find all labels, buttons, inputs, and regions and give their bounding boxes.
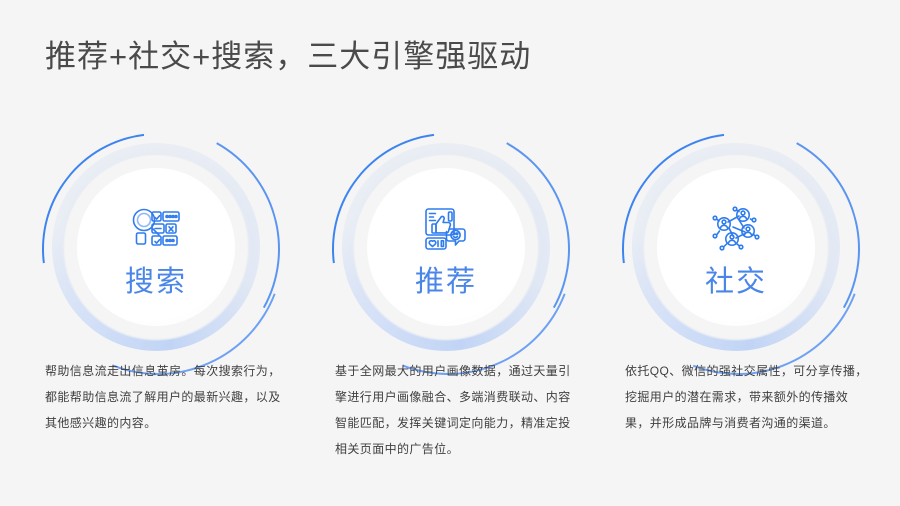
engine-columns: 搜索 帮助信息流走出信息茧房。每次搜索行为，都能帮助信息流了解用户的最新兴趣，以… bbox=[0, 0, 900, 506]
engine-column-recommend: 推荐 基于全网最大的用户画像数据，通过天量引擎进行用户画像融合、多端消费联动、内… bbox=[312, 0, 602, 506]
engine-badge-search[interactable]: 搜索 bbox=[46, 137, 266, 357]
engine-label-recommend: 推荐 bbox=[336, 265, 556, 299]
engine-badge-recommend[interactable]: 推荐 bbox=[336, 137, 556, 357]
engine-column-social: 社交 依托QQ、微信的强社交属性，可分享传播，挖掘用户的潜在需求，带来额外的传播… bbox=[602, 0, 892, 506]
engine-description-social: 依托QQ、微信的强社交属性，可分享传播，挖掘用户的潜在需求，带来额外的传播效果，… bbox=[625, 358, 870, 436]
engine-label-social: 社交 bbox=[626, 265, 846, 299]
engine-label-search: 搜索 bbox=[46, 265, 266, 299]
engine-description-recommend: 基于全网最大的用户画像数据，通过天量引擎进行用户画像融合、多端消费联动、内容智能… bbox=[335, 358, 580, 462]
slide-root: 推荐+社交+搜索，三大引擎强驱动 bbox=[0, 0, 900, 506]
engine-column-search: 搜索 帮助信息流走出信息茧房。每次搜索行为，都能帮助信息流了解用户的最新兴趣，以… bbox=[22, 0, 312, 506]
magnifier-list-icon bbox=[46, 199, 266, 259]
engine-badge-social[interactable]: 社交 bbox=[626, 137, 846, 357]
thumbs-up-feedback-icon bbox=[336, 199, 556, 259]
social-network-icon bbox=[626, 199, 846, 259]
engine-description-search: 帮助信息流走出信息茧房。每次搜索行为，都能帮助信息流了解用户的最新兴趣，以及其他… bbox=[45, 358, 290, 436]
